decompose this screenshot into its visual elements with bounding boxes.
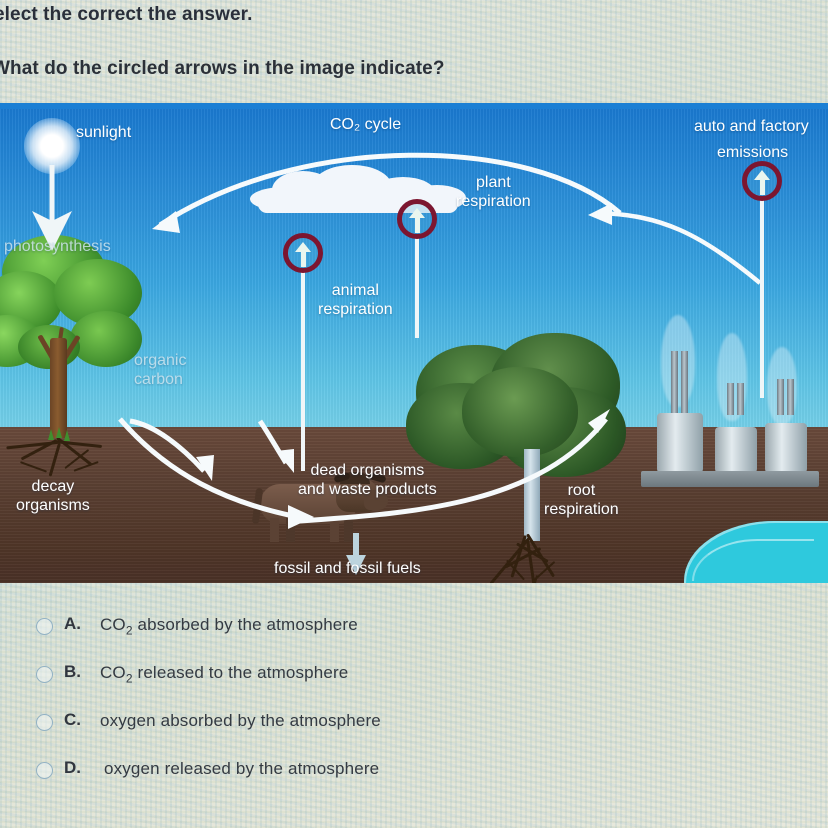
tree-roots — [496, 535, 656, 583]
option-a-text: CO2 absorbed by the atmosphere — [100, 615, 358, 637]
option-b[interactable]: B. CO2 released to the atmosphere — [0, 656, 828, 698]
option-c[interactable]: C. oxygen absorbed by the atmosphere — [0, 704, 828, 746]
instruction-text: elect the correct the answer. — [0, 4, 252, 26]
option-c-letter: C. — [64, 710, 81, 730]
factory-smokestacks — [631, 393, 816, 513]
option-c-text: oxygen absorbed by the atmosphere — [100, 711, 381, 731]
label-decay-organisms: decay organisms — [16, 477, 90, 515]
tree-left-photosynthesis — [0, 233, 164, 438]
radio-button-b[interactable] — [36, 666, 53, 683]
option-a[interactable]: A. CO2 absorbed by the atmosphere — [0, 608, 828, 650]
option-d[interactable]: D. oxygen released by the atmosphere — [0, 752, 828, 794]
option-a-letter: A. — [64, 614, 81, 634]
radio-button-a[interactable] — [36, 618, 53, 635]
label-emissions: emissions — [717, 143, 788, 162]
label-root-respiration: root respiration — [544, 481, 619, 519]
label-sunlight: sunlight — [76, 123, 131, 142]
option-b-letter: B. — [64, 662, 81, 682]
label-dead-organisms: dead organisms and waste products — [298, 461, 437, 499]
radio-button-d[interactable] — [36, 762, 53, 779]
animal-respiration-stem — [301, 271, 305, 471]
option-d-text: oxygen released by the atmosphere — [104, 759, 379, 779]
grass-tuft — [64, 430, 70, 441]
label-auto-factory: auto and factory — [694, 117, 809, 136]
animal-respiration-arrow[interactable] — [283, 233, 323, 273]
radio-button-c[interactable] — [36, 714, 53, 731]
label-organic-carbon: organic carbon — [134, 351, 186, 389]
grass-tuft — [48, 429, 54, 440]
plant-respiration-arrow[interactable] — [397, 199, 437, 239]
factory-emissions-arrow[interactable] — [742, 161, 782, 201]
grass-tuft — [56, 427, 62, 438]
label-animal-respiration: animal respiration — [318, 281, 393, 319]
sun-icon — [24, 118, 80, 174]
option-b-text: CO2 released to the atmosphere — [100, 663, 348, 685]
question-text: What do the circled arrows in the image … — [0, 58, 445, 80]
label-fossil-fuels: fossil and fossil fuels — [274, 559, 421, 578]
label-plant-respiration: plant respiration — [456, 173, 531, 211]
option-d-letter: D. — [64, 758, 81, 778]
plant-respiration-stem — [415, 238, 419, 338]
factory-emission-stem — [760, 198, 764, 398]
carbon-cycle-diagram: sunlight CO₂ cycle auto and factory emis… — [0, 103, 828, 583]
cloud-icon — [250, 165, 465, 211]
label-co2-cycle: CO₂ cycle — [330, 115, 401, 134]
label-photosynthesis: photosynthesis — [4, 237, 111, 256]
